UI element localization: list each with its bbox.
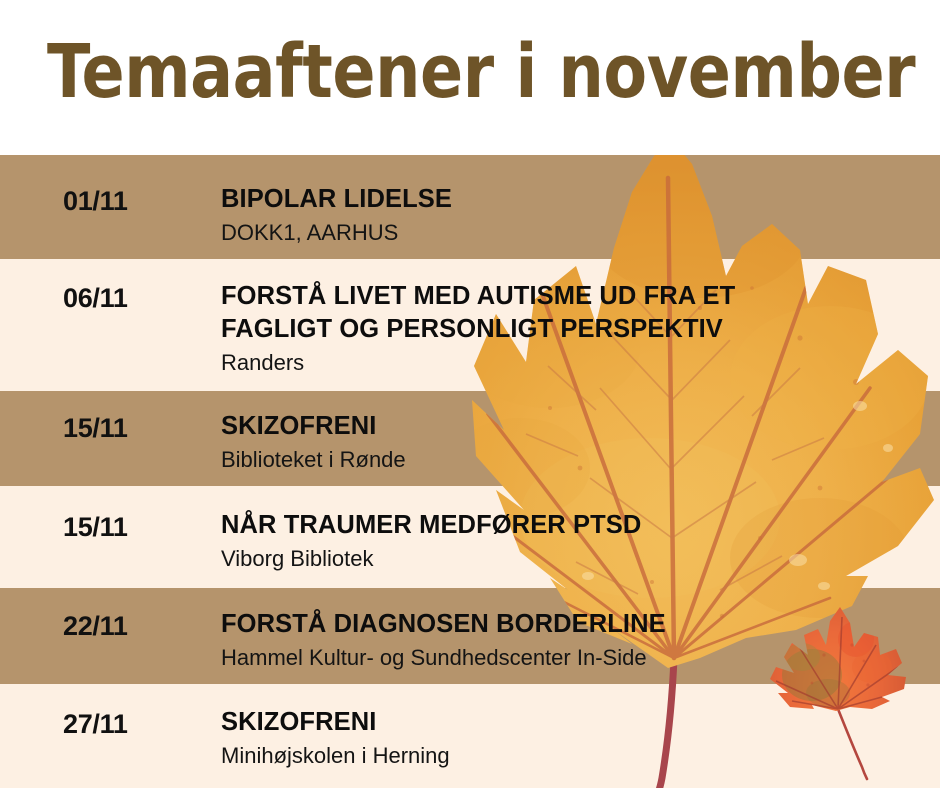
event-row: 06/11 FORSTÅ LIVET MED AUTISME UD FRA ET… — [0, 259, 940, 391]
event-body: FORSTÅ LIVET MED AUTISME UD FRA ET FAGLI… — [221, 280, 930, 377]
event-date: 15/11 — [63, 413, 128, 444]
event-row: 15/11 SKIZOFRENI Biblioteket i Rønde — [0, 391, 940, 486]
event-date: 22/11 — [63, 611, 128, 642]
event-row: 27/11 SKIZOFRENI Minihøjskolen i Herning — [0, 684, 940, 788]
event-date: 27/11 — [63, 709, 128, 740]
event-body: BIPOLAR LIDELSE DOKK1, AARHUS — [221, 183, 930, 247]
event-body: SKIZOFRENI Biblioteket i Rønde — [221, 410, 930, 474]
poster-canvas: Temaaftener i november 01/11 BIPOLAR LID… — [0, 0, 940, 788]
event-venue: Biblioteket i Rønde — [221, 445, 930, 474]
event-title: FORSTÅ DIAGNOSEN BORDERLINE — [221, 608, 930, 641]
event-date: 15/11 — [63, 512, 128, 543]
event-venue: DOKK1, AARHUS — [221, 218, 930, 247]
event-venue: Viborg Bibliotek — [221, 544, 930, 573]
event-venue: Minihøjskolen i Herning — [221, 741, 930, 770]
event-body: FORSTÅ DIAGNOSEN BORDERLINE Hammel Kultu… — [221, 608, 930, 672]
event-row: 01/11 BIPOLAR LIDELSE DOKK1, AARHUS — [0, 155, 940, 259]
event-date: 01/11 — [63, 186, 128, 217]
event-row: 22/11 FORSTÅ DIAGNOSEN BORDERLINE Hammel… — [0, 588, 940, 684]
event-date: 06/11 — [63, 283, 128, 314]
event-title: FORSTÅ LIVET MED AUTISME UD FRA ET FAGLI… — [221, 280, 930, 346]
event-title: SKIZOFRENI — [221, 706, 930, 739]
page-title: Temaaftener i november — [47, 24, 915, 120]
event-venue: Hammel Kultur- og Sundhedscenter In-Side — [221, 643, 930, 672]
event-body: NÅR TRAUMER MEDFØRER PTSD Viborg Bibliot… — [221, 509, 930, 573]
event-title: SKIZOFRENI — [221, 410, 930, 443]
event-venue: Randers — [221, 348, 930, 377]
event-title: NÅR TRAUMER MEDFØRER PTSD — [221, 509, 930, 542]
event-row: 15/11 NÅR TRAUMER MEDFØRER PTSD Viborg B… — [0, 486, 940, 588]
event-body: SKIZOFRENI Minihøjskolen i Herning — [221, 706, 930, 770]
event-title: BIPOLAR LIDELSE — [221, 183, 930, 216]
header-panel: Temaaftener i november — [0, 0, 940, 155]
